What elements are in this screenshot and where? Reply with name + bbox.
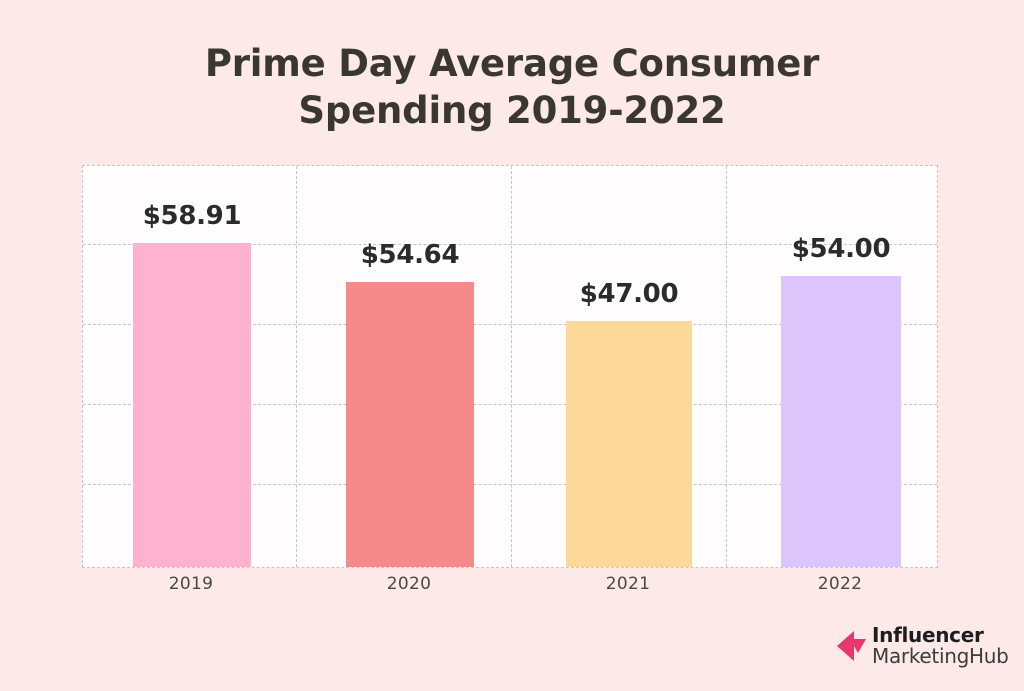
- category-axis: 2019 2020 2021 2022: [82, 574, 938, 604]
- bar-2022[interactable]: [781, 276, 901, 567]
- influencer-marketing-hub-arrow-icon: [836, 629, 870, 663]
- bar-value-label-2019: $58.91: [93, 201, 291, 231]
- bar-2019[interactable]: [133, 243, 251, 567]
- x-axis-tick-2022: 2022: [780, 574, 900, 594]
- bar-group-2019: $58.91: [133, 166, 251, 567]
- bar-value-label-2021: $47.00: [526, 279, 732, 309]
- brand-logo-line1: Influencer: [872, 625, 1009, 646]
- x-axis-tick-2019: 2019: [131, 574, 251, 594]
- chart-title: Prime Day Average Consumer Spending 2019…: [0, 40, 1024, 135]
- brand-logo-line2: MarketingHub: [872, 646, 1009, 667]
- bar-group-2021: $47.00: [566, 166, 692, 567]
- bar-value-label-2022: $54.00: [741, 234, 941, 264]
- bar-value-label-2020: $54.64: [306, 240, 514, 270]
- chart-page: Prime Day Average Consumer Spending 2019…: [0, 0, 1024, 691]
- brand-logo-text: Influencer MarketingHub: [872, 625, 1009, 667]
- x-axis-tick-2020: 2020: [345, 574, 473, 594]
- bar-2021[interactable]: [566, 321, 692, 567]
- plot-area: $58.91 $54.64 $47.00 $54.00: [82, 165, 938, 568]
- bar-group-2022: $54.00: [781, 166, 901, 567]
- bar-2020[interactable]: [346, 282, 474, 567]
- bar-group-2020: $54.64: [346, 166, 474, 567]
- bars-layer: $58.91 $54.64 $47.00 $54.00: [83, 166, 937, 567]
- brand-logo[interactable]: Influencer MarketingHub: [836, 622, 1012, 670]
- x-axis-tick-2021: 2021: [565, 574, 691, 594]
